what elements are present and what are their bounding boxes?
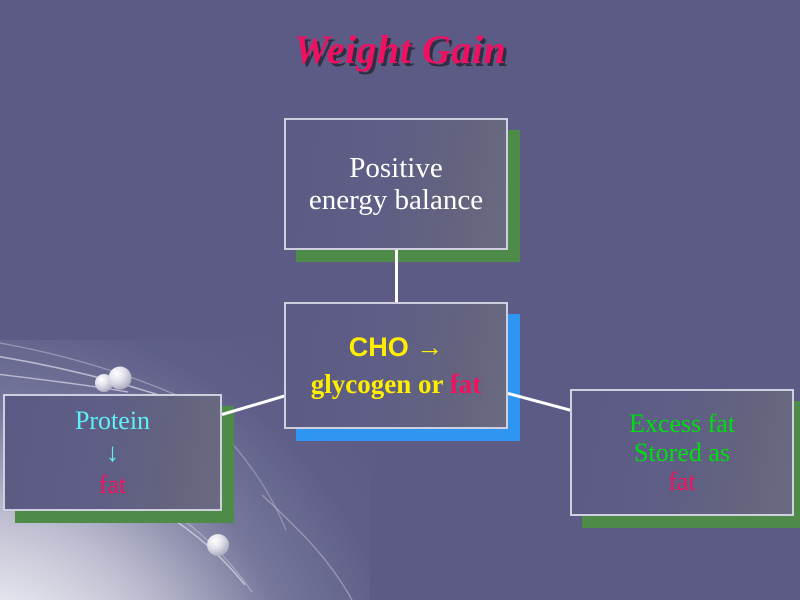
excess-line-1: Excess fat: [629, 409, 735, 438]
sphere-decoration: [95, 374, 113, 392]
protein-line-3: fat: [99, 470, 126, 499]
slide-canvas: Weight Gain Positive energy balance CHO …: [0, 0, 800, 600]
sphere-decoration: [207, 534, 229, 556]
excess-line-2: Stored as: [634, 438, 730, 467]
connector-cho-to-protein: [222, 394, 288, 416]
connector-positive-to-cho: [395, 250, 398, 303]
protein-down-arrow-icon: ↓: [106, 435, 119, 470]
node-protein-to-fat[interactable]: Protein ↓ fat: [3, 394, 222, 511]
cho-glycogen-text: glycogen or: [311, 369, 450, 399]
cho-line-2: glycogen or fat: [311, 369, 481, 399]
node-excess-fat-stored[interactable]: Excess fat Stored as fat: [570, 389, 794, 516]
positive-line-1: Positive: [349, 152, 442, 184]
cho-fat-text: fat: [450, 369, 481, 399]
node-positive-energy-balance[interactable]: Positive energy balance: [284, 118, 508, 250]
protein-line-1: Protein: [75, 406, 150, 435]
slide-title: Weight Gain: [0, 26, 800, 73]
cho-line-1: CHO →: [349, 332, 444, 362]
sphere-decoration: [109, 367, 132, 390]
node-cho-glycogen-fat[interactable]: CHO → glycogen or fat: [284, 302, 508, 429]
positive-line-2: energy balance: [309, 184, 483, 216]
excess-line-3: fat: [668, 467, 695, 496]
